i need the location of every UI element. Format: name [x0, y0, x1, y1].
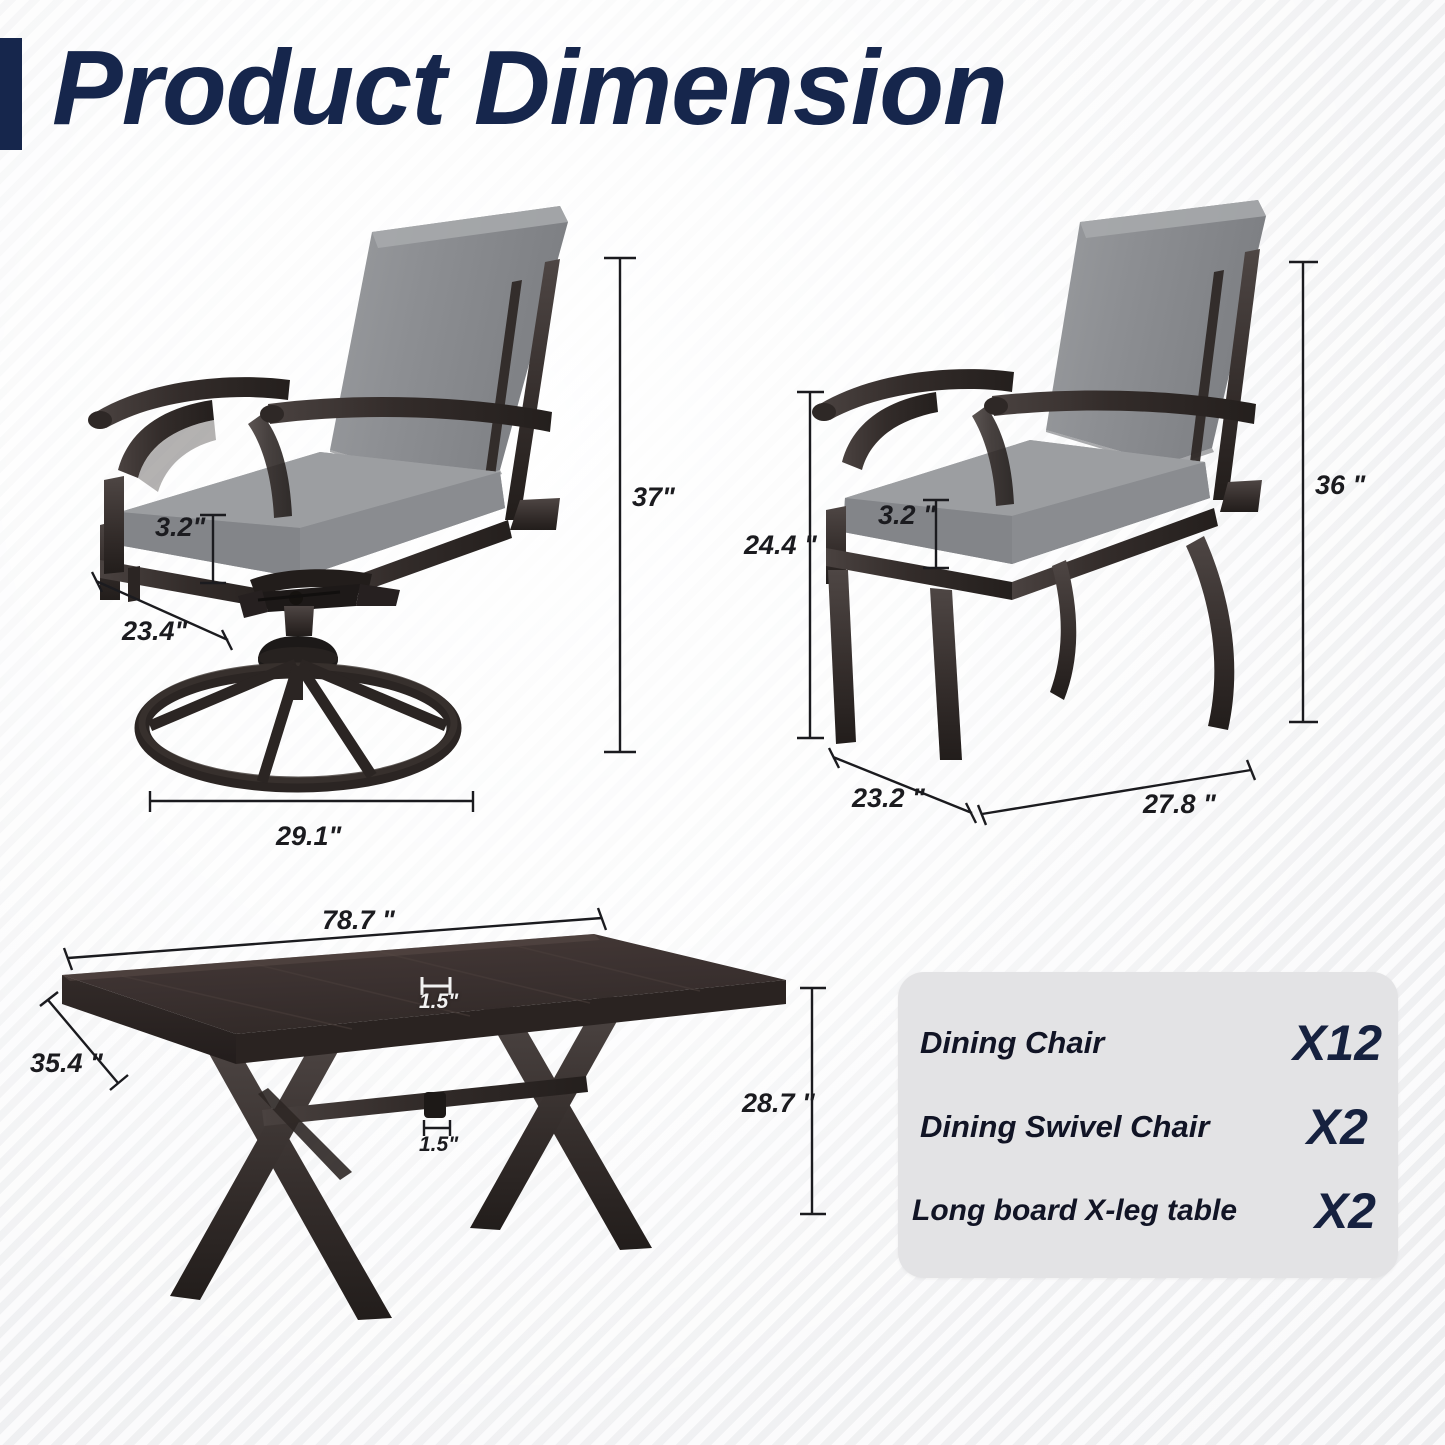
- legend-label-dining-swivel-chair: Dining Swivel Chair: [898, 1109, 1209, 1145]
- swivel-spoke: [262, 666, 298, 782]
- dim-label-dining-seat-height: 24.4 ": [744, 530, 817, 561]
- legend-qty-dining-chair: X12: [1293, 1014, 1382, 1072]
- dining-chair-illustration: [812, 200, 1266, 760]
- dining-leg-front-right: [930, 588, 962, 760]
- dim-label-swivel-base-width: 29.1": [276, 821, 341, 852]
- table-leg-left-b: [170, 1028, 350, 1300]
- dim-label-table-height: 28.7 ": [742, 1088, 815, 1119]
- legend-label-dining-chair: Dining Chair: [898, 1025, 1104, 1061]
- swivel-front-post: [104, 476, 124, 574]
- swivel-column: [284, 606, 314, 636]
- dim-label-table-length: 78.7 ": [322, 905, 395, 936]
- dining-leg-front-left: [828, 570, 856, 744]
- dim-label-swivel-overall-height: 37": [632, 482, 675, 513]
- dim-label-dining-depth: 23.2 ": [852, 783, 925, 814]
- legend-label-long-board-x-leg-table: Long board X-leg table: [898, 1194, 1237, 1228]
- dining-leg-rear-curved-2: [1186, 536, 1234, 730]
- swivel-chair-illustration: [88, 206, 568, 785]
- dim-label-dining-width: 27.8 ": [1143, 789, 1216, 820]
- dim-label-dining-cushion-thickness: 3.2 ": [878, 500, 936, 531]
- legend-panel: Dining Chair X12 Dining Swivel Chair X2 …: [898, 972, 1398, 1278]
- dim-label-dining-overall-height: 36 ": [1315, 470, 1365, 501]
- legend-row: Dining Swivel Chair X2: [898, 1084, 1398, 1170]
- legend-qty-long-board-x-leg-table: X2: [1315, 1182, 1376, 1240]
- dim-label-table-width: 35.4 ": [30, 1048, 103, 1079]
- dim-label-table-slat-width: 1.5": [419, 990, 458, 1014]
- legend-row: Long board X-leg table X2: [898, 1168, 1398, 1254]
- dim-label-table-stretcher-width: 1.5": [419, 1133, 458, 1157]
- legend-row: Dining Chair X12: [898, 1000, 1398, 1086]
- dim-label-swivel-seat-depth: 23.4": [122, 616, 187, 647]
- legend-qty-dining-swivel-chair: X2: [1307, 1098, 1368, 1156]
- table-stretcher-collar: [424, 1092, 446, 1118]
- dim-label-swivel-cushion-thickness: 3.2": [155, 512, 205, 543]
